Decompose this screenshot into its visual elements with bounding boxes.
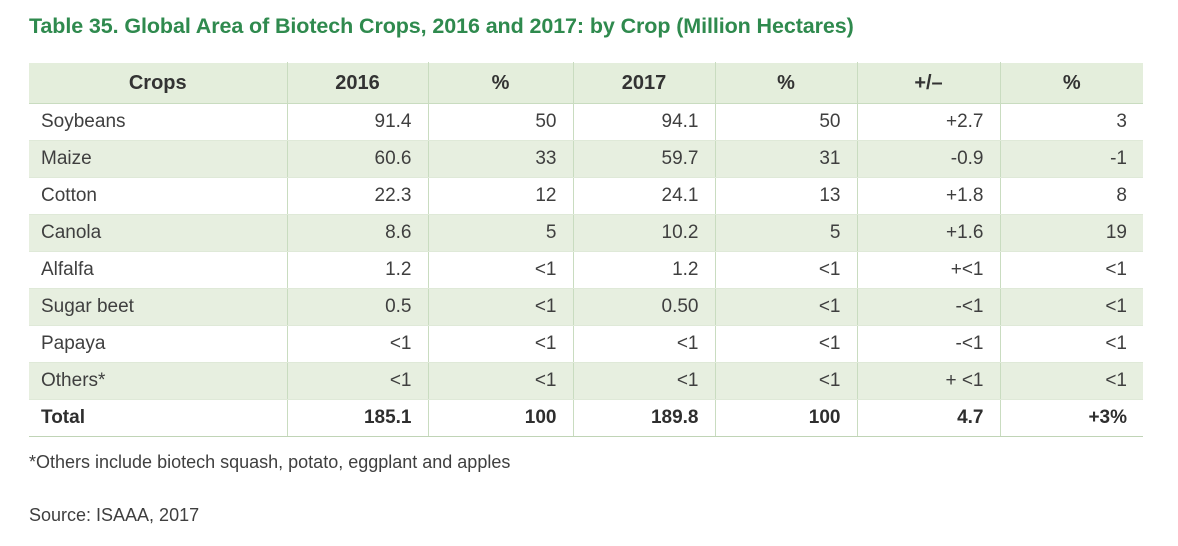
cell-area-2017: 1.2 [573, 252, 715, 289]
cell-area-2016: 22.3 [287, 178, 428, 215]
column-header-2017: 2017 [573, 63, 715, 104]
column-header-2016: 2016 [287, 63, 428, 104]
cell-percent-2017: 50 [715, 104, 857, 141]
cell-area-2016: <1 [287, 326, 428, 363]
table-body: Soybeans 91.4 50 94.1 50 +2.7 3 Maize 60… [29, 104, 1143, 437]
cell-area-2016: 60.6 [287, 141, 428, 178]
cell-percent-2016: 50 [428, 104, 573, 141]
column-header-percent-2016: % [428, 63, 573, 104]
table-row: Sugar beet 0.5 <1 0.50 <1 -<1 <1 [29, 289, 1143, 326]
cell-percent-2016: <1 [428, 252, 573, 289]
cell-area-2016: 91.4 [287, 104, 428, 141]
cell-difference: -<1 [857, 289, 1000, 326]
cell-total-percent-2016: 100 [428, 400, 573, 437]
cell-crop: Alfalfa [29, 252, 287, 289]
cell-area-2017: <1 [573, 326, 715, 363]
table-header-row: Crops 2016 % 2017 % +/– % [29, 63, 1143, 104]
cell-total-label: Total [29, 400, 287, 437]
table-row: Maize 60.6 33 59.7 31 -0.9 -1 [29, 141, 1143, 178]
biotech-crops-table: Crops 2016 % 2017 % +/– % Soybeans 91.4 … [29, 62, 1143, 437]
cell-total-difference: 4.7 [857, 400, 1000, 437]
cell-crop: Papaya [29, 326, 287, 363]
cell-percent-2016: <1 [428, 289, 573, 326]
cell-area-2017: 10.2 [573, 215, 715, 252]
table-row: Others* <1 <1 <1 <1 + <1 <1 [29, 363, 1143, 400]
cell-percent-2017: <1 [715, 363, 857, 400]
cell-area-2017: 59.7 [573, 141, 715, 178]
column-header-difference: +/– [857, 63, 1000, 104]
cell-area-2016: 8.6 [287, 215, 428, 252]
cell-percent-change: 8 [1000, 178, 1143, 215]
cell-crop: Sugar beet [29, 289, 287, 326]
table-page: Table 35. Global Area of Biotech Crops, … [0, 0, 1178, 546]
cell-crop: Canola [29, 215, 287, 252]
cell-area-2016: <1 [287, 363, 428, 400]
table-footnote: *Others include biotech squash, potato, … [29, 452, 510, 473]
table-source: Source: ISAAA, 2017 [29, 505, 199, 526]
cell-percent-change: -1 [1000, 141, 1143, 178]
cell-difference: +2.7 [857, 104, 1000, 141]
cell-percent-change: <1 [1000, 252, 1143, 289]
table-row: Alfalfa 1.2 <1 1.2 <1 +<1 <1 [29, 252, 1143, 289]
cell-area-2017: 0.50 [573, 289, 715, 326]
cell-percent-change: 3 [1000, 104, 1143, 141]
cell-crop: Others* [29, 363, 287, 400]
cell-percent-change: <1 [1000, 363, 1143, 400]
cell-percent-change: <1 [1000, 289, 1143, 326]
cell-percent-2017: 13 [715, 178, 857, 215]
column-header-crops: Crops [29, 63, 287, 104]
table-row: Papaya <1 <1 <1 <1 -<1 <1 [29, 326, 1143, 363]
cell-difference: +1.6 [857, 215, 1000, 252]
page-title: Table 35. Global Area of Biotech Crops, … [29, 14, 854, 39]
cell-percent-2017: 31 [715, 141, 857, 178]
cell-percent-2016: 5 [428, 215, 573, 252]
cell-total-area-2017: 189.8 [573, 400, 715, 437]
cell-percent-change: 19 [1000, 215, 1143, 252]
cell-difference: +<1 [857, 252, 1000, 289]
cell-crop: Soybeans [29, 104, 287, 141]
table-container: Crops 2016 % 2017 % +/– % Soybeans 91.4 … [29, 62, 1143, 437]
cell-area-2017: <1 [573, 363, 715, 400]
cell-percent-change: <1 [1000, 326, 1143, 363]
column-header-percent-change: % [1000, 63, 1143, 104]
cell-difference: +1.8 [857, 178, 1000, 215]
column-header-percent-2017: % [715, 63, 857, 104]
cell-percent-2017: <1 [715, 326, 857, 363]
cell-percent-2017: <1 [715, 252, 857, 289]
cell-crop: Maize [29, 141, 287, 178]
cell-total-percent-2017: 100 [715, 400, 857, 437]
table-total-row: Total 185.1 100 189.8 100 4.7 +3% [29, 400, 1143, 437]
cell-total-percent-change: +3% [1000, 400, 1143, 437]
cell-percent-2016: 12 [428, 178, 573, 215]
cell-percent-2016: <1 [428, 326, 573, 363]
cell-area-2016: 0.5 [287, 289, 428, 326]
cell-percent-2017: <1 [715, 289, 857, 326]
cell-area-2016: 1.2 [287, 252, 428, 289]
table-header: Crops 2016 % 2017 % +/– % [29, 63, 1143, 104]
table-row: Cotton 22.3 12 24.1 13 +1.8 8 [29, 178, 1143, 215]
cell-area-2017: 24.1 [573, 178, 715, 215]
cell-difference: -<1 [857, 326, 1000, 363]
cell-difference: + <1 [857, 363, 1000, 400]
table-row: Soybeans 91.4 50 94.1 50 +2.7 3 [29, 104, 1143, 141]
cell-percent-2016: <1 [428, 363, 573, 400]
table-row: Canola 8.6 5 10.2 5 +1.6 19 [29, 215, 1143, 252]
cell-percent-2017: 5 [715, 215, 857, 252]
cell-crop: Cotton [29, 178, 287, 215]
cell-difference: -0.9 [857, 141, 1000, 178]
cell-total-area-2016: 185.1 [287, 400, 428, 437]
cell-area-2017: 94.1 [573, 104, 715, 141]
cell-percent-2016: 33 [428, 141, 573, 178]
